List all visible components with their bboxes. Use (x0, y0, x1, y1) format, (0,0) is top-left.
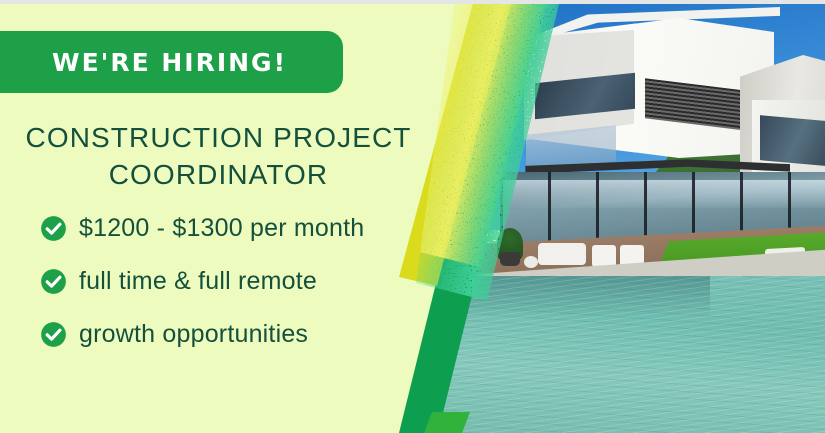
benefit-label: growth opportunities (79, 320, 308, 349)
benefits-list: $1200 - $1300 per month full time & full… (40, 214, 460, 373)
hiring-badge-label: WE'RE HIRING! (26, 48, 287, 77)
check-circle-icon (40, 268, 67, 295)
hiring-banner: WE'RE HIRING! CONSTRUCTION PROJECT COORD… (0, 0, 825, 433)
check-circle-icon (40, 215, 67, 242)
top-edge-strip (0, 0, 825, 4)
check-circle-icon (40, 321, 67, 348)
right-window (760, 115, 825, 166)
banner-content: WE'RE HIRING! CONSTRUCTION PROJECT COORD… (0, 0, 470, 433)
water-ripples (410, 276, 825, 433)
list-item: growth opportunities (40, 320, 460, 349)
benefit-label: full time & full remote (79, 267, 317, 296)
list-item: $1200 - $1300 per month (40, 214, 460, 243)
garden-sphere (524, 256, 538, 268)
planter-pot (500, 252, 520, 266)
hiring-badge: WE'RE HIRING! (0, 31, 343, 93)
benefit-label: $1200 - $1300 per month (79, 214, 364, 243)
list-item: full time & full remote (40, 267, 460, 296)
page-title: CONSTRUCTION PROJECT COORDINATOR (0, 120, 437, 194)
outdoor-sofa (538, 243, 586, 265)
